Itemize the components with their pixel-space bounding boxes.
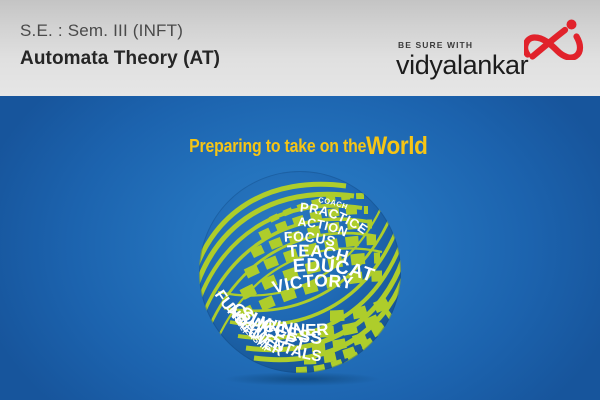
- vidyalankar-swirl-icon: [524, 18, 586, 60]
- tagline-emphasis: World: [366, 132, 428, 161]
- slide-page: S.E. : Sem. III (INFT) Automata Theory (…: [0, 0, 600, 400]
- content-panel: Preparing to take on the World: [0, 96, 600, 400]
- panel-tagline: Preparing to take on the World: [0, 132, 600, 161]
- globe-shadow: [224, 372, 380, 386]
- brand-wordmark: vidyalankar: [396, 50, 528, 80]
- page-header: S.E. : Sem. III (INFT) Automata Theory (…: [0, 0, 600, 96]
- course-subtitle: S.E. : Sem. III (INFT): [20, 20, 350, 42]
- page-title: Automata Theory (AT): [20, 46, 350, 72]
- tagline-lead: Preparing to take on the: [189, 136, 366, 157]
- brand-tagline: BE SURE WITH: [398, 40, 473, 50]
- header-title-group: S.E. : Sem. III (INFT) Automata Theory (…: [20, 20, 350, 72]
- brand-logo[interactable]: BE SURE WITH vidyalankar: [396, 18, 586, 80]
- wordcloud-globe-icon: COACH PRACTICE ACTION FOCUS TEACH: [196, 166, 404, 386]
